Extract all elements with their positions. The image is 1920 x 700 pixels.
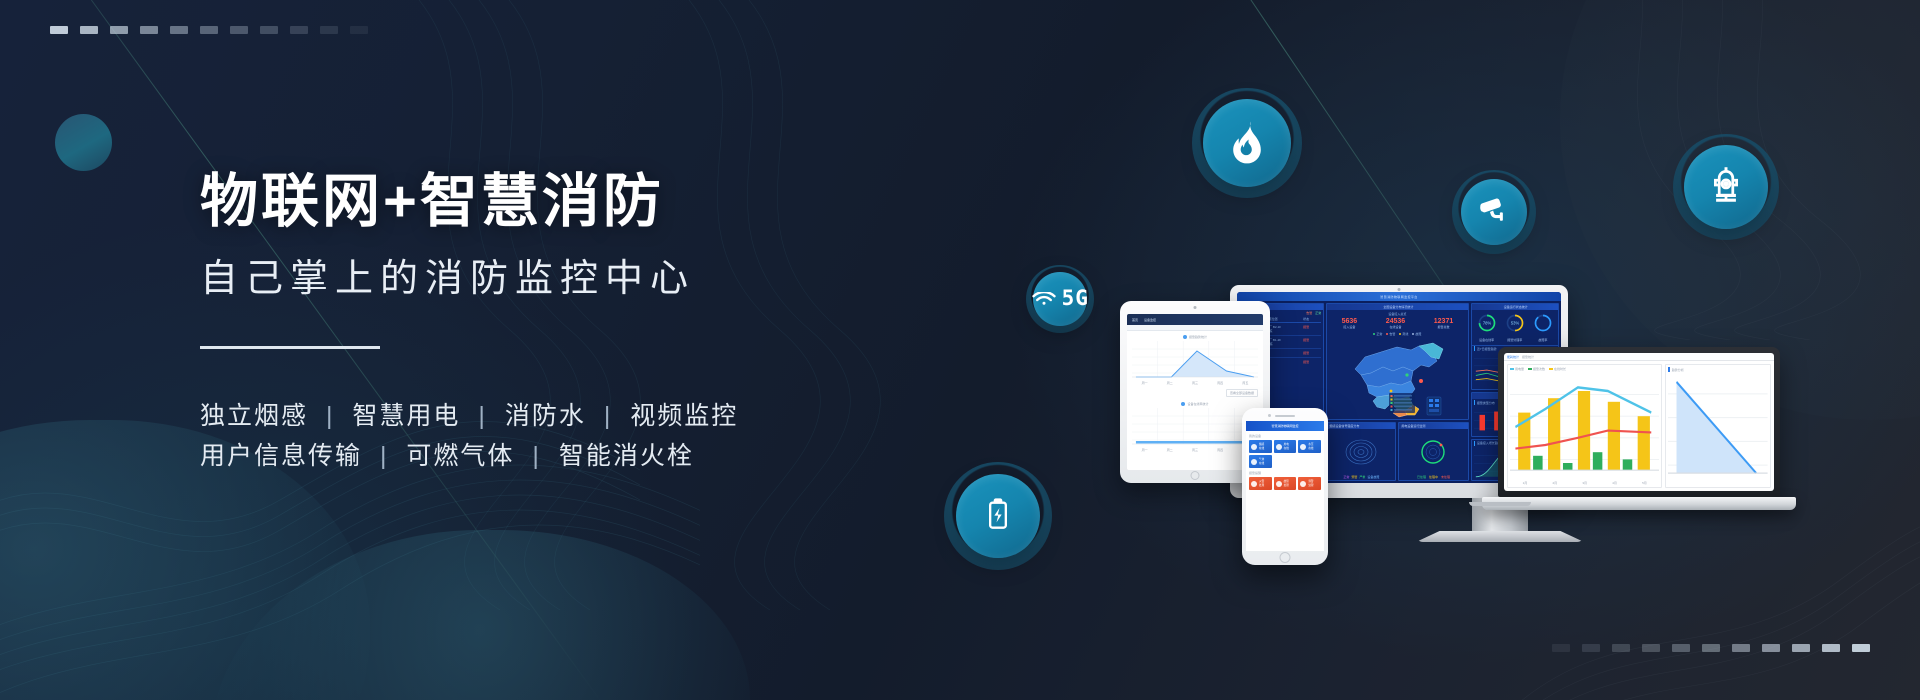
- tile-sub: 处理: [1259, 484, 1264, 487]
- divider-rule: [200, 346, 380, 349]
- tablet-chart-one: [1132, 341, 1258, 381]
- panel-title: 报警趋势统计: [1189, 335, 1207, 339]
- badge-hydrant: [1673, 134, 1779, 240]
- panel-title: 设备在线率统计: [1187, 402, 1208, 406]
- laptop-screen: 能耗统计 报警统计 用电量 报警次数 在线时长: [1504, 353, 1774, 491]
- laptop-bar-chart: [1510, 373, 1659, 481]
- dashboard-title: 智慧消防物联网监控平台: [1380, 295, 1417, 299]
- laptop: 能耗统计 报警统计 用电量 报警次数 在线时长: [1498, 347, 1780, 497]
- laptop-area-chart: [1668, 374, 1768, 485]
- panel-signal-radar: 烟感设备信号强度分布 正常 预警: [1326, 422, 1396, 481]
- svg-text:53%: 53%: [1511, 320, 1520, 325]
- page-subtitle: 自己掌上的消防监控中心: [200, 256, 900, 304]
- svg-text:78%: 78%: [1482, 320, 1491, 325]
- phone-header-title: 智慧消防物联网监控: [1271, 424, 1298, 428]
- kpi-item: 12371 报警总数: [1434, 318, 1453, 329]
- decorative-circle: [55, 114, 112, 171]
- phone-camera-dot: [1268, 414, 1271, 417]
- gear-icon: [1251, 459, 1257, 465]
- feature-separator: |: [317, 402, 344, 430]
- badge-power: [944, 462, 1052, 570]
- phone-tile-alert[interactable]: 故障 处理: [1274, 477, 1297, 490]
- badge-flame: [1192, 88, 1302, 198]
- phone-tile[interactable]: 烟感 在线: [1249, 440, 1272, 453]
- legend-entry: 报警次数: [1533, 367, 1545, 371]
- feature-line-1: 独立烟感 | 智慧用电 | 消防水 | 视频监控: [200, 396, 900, 437]
- kpi-section-label: 设备接入总览: [1388, 312, 1406, 316]
- feature-line-2: 用户信息传输 | 可燃气体 | 智能消火栓: [200, 436, 900, 477]
- panel-title: 趋势分析: [1672, 368, 1684, 372]
- hero-copy: 物联网+智慧消防 自己掌上的消防监控中心 独立烟感 | 智慧用电 | 消防水 |…: [200, 168, 900, 477]
- wifi-signal-icon: 5G: [1031, 288, 1089, 310]
- legend-entry: 处理中: [1429, 475, 1438, 479]
- tab-item[interactable]: 设备监控: [1144, 318, 1156, 322]
- group-label: 我的设备: [1249, 434, 1321, 438]
- phone-home-button[interactable]: [1280, 552, 1291, 563]
- alert-icon: [1276, 481, 1282, 487]
- legend-entry: 在线时长: [1554, 367, 1566, 371]
- phone-speaker: [1275, 415, 1295, 417]
- phone-tile-alert[interactable]: 预警 处理: [1298, 477, 1321, 490]
- gear-icon: [1300, 444, 1306, 450]
- phone-tile[interactable]: 用电 在线: [1274, 440, 1297, 453]
- hero-banner: 物联网+智慧消防 自己掌上的消防监控中心 独立烟感 | 智慧用电 | 消防水 |…: [0, 0, 1920, 700]
- feature-item: 智能消火栓: [559, 442, 694, 470]
- decorative-dash-row-top: [50, 26, 368, 34]
- kpi-item: 24536 在线设备: [1386, 318, 1405, 329]
- badge-camera: [1452, 170, 1536, 254]
- panel-title: 全国设备分布情况统计: [1327, 304, 1467, 310]
- monitor-camera-dot: [1398, 288, 1401, 291]
- panel-power-monitor: 用电设备运行监测: [1398, 422, 1468, 481]
- feature-separator: |: [371, 442, 398, 470]
- legend-entry: 设备故障: [1367, 475, 1379, 479]
- legend-entry: 预警: [1351, 475, 1357, 479]
- page-title: 物联网+智慧消防: [200, 168, 900, 236]
- decorative-dash-row-bottom: [1552, 644, 1870, 652]
- gear-icon: [1276, 444, 1282, 450]
- legend-entry: 已处理: [1417, 475, 1426, 479]
- legend-entry: 正常: [1343, 475, 1349, 479]
- feature-list: 独立烟感 | 智慧用电 | 消防水 | 视频监控 用户信息传输 | 可燃气体 |…: [200, 396, 900, 477]
- kpi-item: 5636 接入设备: [1342, 318, 1358, 329]
- view-all-button[interactable]: 查看全部设备数据: [1226, 389, 1258, 397]
- kpi-value: 5636: [1342, 318, 1358, 325]
- feature-item: 可燃气体: [406, 442, 514, 470]
- laptop-trackpad-notch: [1469, 502, 1531, 506]
- kpi-value: 24536: [1386, 318, 1405, 325]
- feature-separator: |: [523, 442, 550, 470]
- tile-sub: 在线: [1284, 447, 1289, 450]
- feature-item: 消防水: [505, 402, 586, 430]
- tile-sub: 处理: [1284, 484, 1289, 487]
- feature-item: 用户信息传输: [200, 442, 362, 470]
- kpi-label: 在线设备: [1386, 325, 1405, 329]
- feature-item: 视频监控: [630, 402, 738, 430]
- flame-icon: [1224, 118, 1270, 169]
- legend-entry: 未处理: [1441, 475, 1450, 479]
- tile-sub: 处理: [1308, 484, 1313, 487]
- background-blob-bottom-left-2: [210, 530, 750, 700]
- phone-tile[interactable]: 气体 在线: [1249, 455, 1272, 468]
- tile-sub: 在线: [1259, 462, 1264, 465]
- feature-item: 独立烟感: [200, 402, 308, 430]
- alert-icon: [1251, 481, 1257, 487]
- badge-network: 5G: [1026, 265, 1094, 333]
- dashboard-header: 智慧消防物联网监控平台: [1237, 292, 1561, 301]
- phone-screen: 智慧消防物联网监控 我的设备 烟感 在线: [1246, 421, 1324, 551]
- network-label: 5G: [1062, 286, 1089, 310]
- monitor-stand-base: [1416, 531, 1584, 542]
- cctv-camera-icon: [1476, 192, 1512, 233]
- gauge-item: 53% 报警处理率: [1505, 313, 1525, 342]
- gear-icon: [1251, 444, 1257, 450]
- gauge-item: 故障率: [1533, 313, 1553, 342]
- legend-entry: 正常: [1315, 311, 1321, 315]
- tablet-chart-two: [1132, 408, 1258, 448]
- tile-sub: 在线: [1308, 447, 1313, 450]
- smartphone: 智慧消防物联网监控 我的设备 烟感 在线: [1242, 408, 1328, 565]
- feature-separator: |: [595, 402, 622, 430]
- phone-tile-alert[interactable]: 火警 处理: [1249, 477, 1272, 490]
- panel-china-map: 全国设备分布情况统计 设备接入总览 5636 接入设备 24536 在线设备: [1326, 303, 1468, 420]
- kpi-label: 接入设备: [1342, 325, 1358, 329]
- china-map: [1327, 336, 1467, 419]
- legend-entry: 用电量: [1515, 367, 1524, 371]
- group-label: 报警提醒: [1249, 471, 1321, 475]
- fire-hydrant-icon: [1704, 163, 1748, 212]
- gauge-item: 78% 设备在线率: [1477, 313, 1497, 342]
- phone-tile[interactable]: 水压 在线: [1298, 440, 1321, 453]
- alert-icon: [1300, 481, 1306, 487]
- legend-entry: 告警: [1306, 311, 1312, 315]
- battery-bolt-icon: [978, 494, 1018, 539]
- tablet-camera-dot: [1194, 306, 1197, 309]
- feature-item: 智慧用电: [352, 402, 460, 430]
- legend-entry: 严重: [1359, 475, 1365, 479]
- tab-item[interactable]: 首页: [1132, 318, 1138, 322]
- feature-separator: |: [469, 402, 496, 430]
- kpi-label: 报警总数: [1434, 325, 1453, 329]
- device-mockup-group: 智慧消防物联网监控平台 实时报警信息 告警 正常: [1120, 285, 1880, 585]
- kpi-value: 12371: [1434, 318, 1453, 325]
- tile-sub: 在线: [1259, 447, 1264, 450]
- tablet-home-button[interactable]: [1191, 471, 1200, 480]
